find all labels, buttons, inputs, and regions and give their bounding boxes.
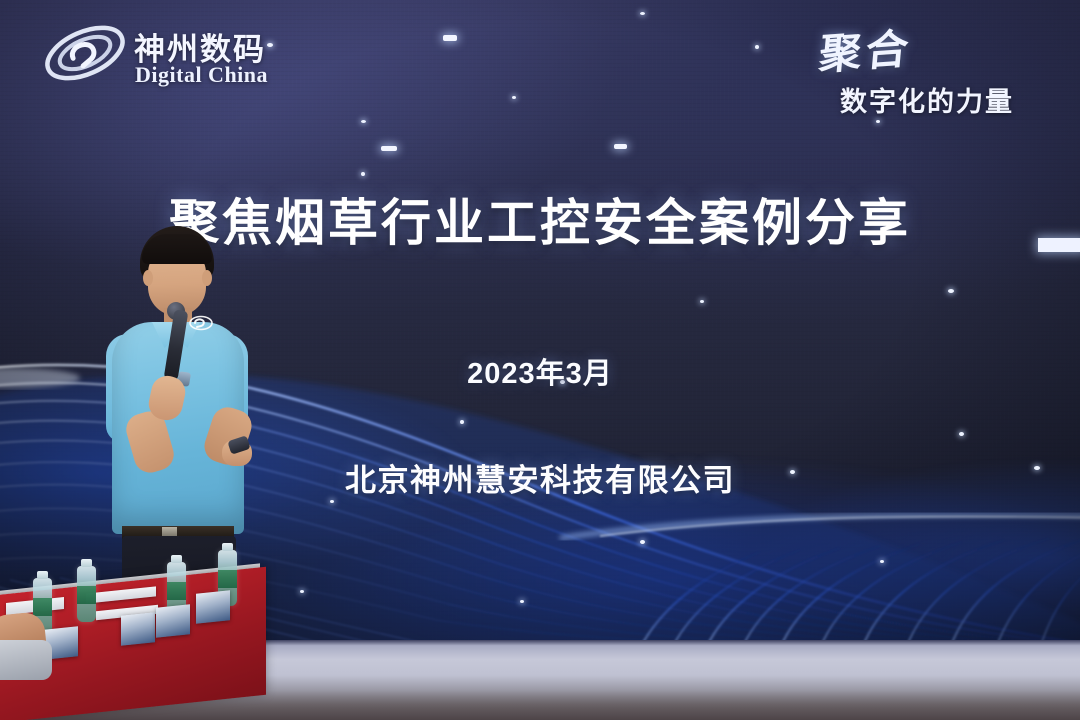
light-particle (330, 500, 334, 503)
light-particle (755, 45, 759, 49)
light-particle (640, 540, 645, 544)
speaker-ear-left (143, 270, 153, 286)
light-particle (700, 300, 704, 303)
bottle-label (77, 586, 96, 604)
conference-stage-photo: 神州数码 Digital China 聚合 数字化的力量 聚焦烟草行业工控安全案… (0, 0, 1080, 720)
light-particle (640, 12, 645, 15)
bottle-cap (222, 543, 233, 551)
light-particle (361, 172, 365, 176)
speaker-hair-front (142, 234, 212, 264)
table-name-card (121, 612, 155, 646)
event-tagline: 数字化的力量 (840, 80, 1014, 119)
light-particle (876, 120, 880, 123)
digital-china-swirl-icon (42, 20, 128, 86)
speaker-ear-right (202, 270, 212, 286)
digital-china-logo: 神州数码 Digital China (42, 18, 302, 90)
event-calligraphy: 聚合 (817, 15, 915, 82)
speaker-chest-emblem-icon (188, 312, 214, 334)
light-particle (300, 590, 304, 593)
light-particle (520, 600, 524, 603)
water-bottle (77, 566, 96, 622)
bottle-label (218, 570, 237, 588)
table-name-card (156, 604, 190, 638)
table-name-card (196, 590, 230, 624)
event-theme-logo: 聚合 数字化的力量 (812, 18, 1062, 118)
light-particle (880, 560, 884, 563)
bottle-cap (37, 571, 48, 579)
light-particle (361, 120, 366, 123)
light-particle (460, 420, 464, 424)
screen-edge-highlight (1038, 238, 1080, 252)
light-particle (959, 432, 964, 436)
light-particle (381, 146, 397, 151)
light-particle (614, 144, 627, 149)
bottle-label (167, 582, 186, 600)
bottle-cap (171, 555, 182, 563)
bottle-label (33, 598, 52, 616)
seated-attendee-body (0, 640, 52, 680)
light-particle (948, 289, 954, 293)
light-particle (512, 96, 516, 99)
bottle-cap (81, 559, 92, 567)
digital-china-english-name: Digital China (135, 62, 268, 88)
light-particle (443, 35, 457, 41)
